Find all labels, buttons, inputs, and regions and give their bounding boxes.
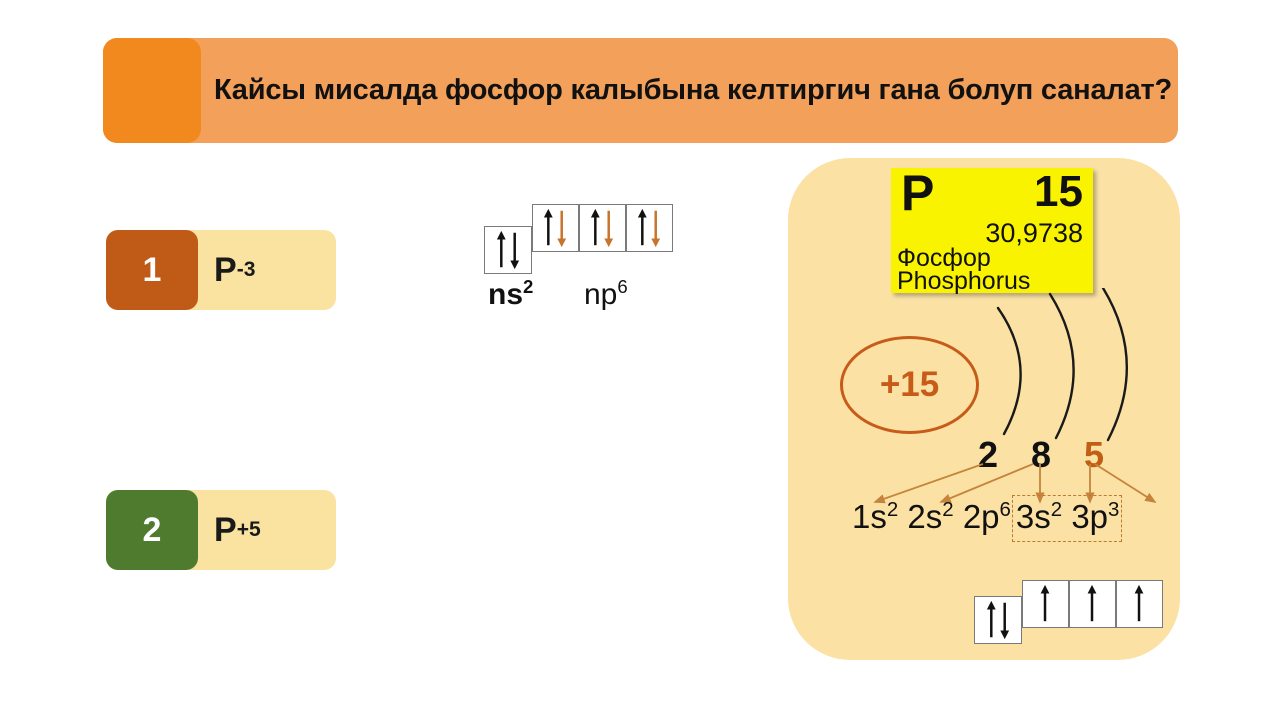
option-2-label: P+5 [214,490,261,570]
valence-shell-highlight-box: 3s2 3p3 [1012,495,1123,542]
atomic-mass: 30,9738 [985,220,1083,247]
nucleus-charge: +15 [840,336,979,434]
answer-option-2[interactable]: 2 P+5 [106,490,336,570]
config-electrons-2s: 2 [942,498,953,521]
option-2-formula-base: P [214,511,237,550]
phosphorus-atom-panel: P 15 30,9738 Фосфор Phosphorus +15 2 8 5… [788,158,1180,660]
electron-pair-arrows-ns [485,227,531,273]
orbital-box-np-3 [626,204,673,252]
page-title: Кайсы мисалда фосфор калыбына келтиргич … [213,38,1173,143]
electron-single-arrow-3p-2 [1070,581,1115,627]
np-label-superscript: 6 [617,276,627,297]
np-label-text: np [584,278,617,311]
electron-pair-arrows-np-1 [533,205,578,251]
electron-pair-arrows-np-3 [627,205,672,251]
shell-arc-2 [1050,294,1074,438]
config-segment-3s: 3s2 [1016,498,1062,536]
config-segment-2s: 2s2 [907,498,953,536]
np-sublevel-label: np6 [584,276,628,312]
shell-arc-3 [1103,288,1127,440]
option-1-label: P-3 [214,230,255,310]
option-2-formula-charge: +5 [237,518,261,542]
electron-shell-arcs [978,288,1178,448]
title-accent-block [103,38,201,143]
config-orbital-3p: 3p [1071,498,1108,535]
option-2-number-badge: 2 [106,490,198,570]
option-1-formula-base: P [214,251,237,290]
ns-label-superscript: 2 [523,276,533,297]
shell-arc-1 [998,308,1021,434]
electron-single-arrow-3p-3 [1117,581,1162,627]
config-orbital-3s: 3s [1016,498,1051,535]
orbital-box-3p-1 [1022,580,1069,628]
config-electrons-3p: 3 [1108,498,1119,521]
orbital-box-np-2 [579,204,626,252]
config-electrons-2p: 6 [1000,498,1011,521]
config-segment-2p: 2p6 [963,498,1011,536]
electron-pair-arrows-3s [975,597,1021,643]
config-orbital-2p: 2p [963,498,1000,535]
ns-label-text: ns [488,278,523,311]
atomic-number: 15 [1034,170,1083,214]
question-title-bar: Кайсы мисалда фосфор калыбына келтиргич … [103,38,1178,143]
ns-sublevel-label: ns2 [488,276,533,312]
config-orbital-1s: 1s [852,498,887,535]
arrow-shell1-to-1s [875,464,983,502]
orbital-box-3p-2 [1069,580,1116,628]
orbital-box-ns [484,226,532,274]
periodic-table-cell: P 15 30,9738 Фосфор Phosphorus [891,168,1093,293]
orbital-box-3p-3 [1116,580,1163,628]
valence-orbital-diagram [974,580,1174,646]
orbital-box-3s [974,596,1022,644]
general-orbital-diagram: ns2 np6 [484,200,714,320]
option-1-number-badge: 1 [106,230,198,310]
center-diagram-labels: ns2 np6 [484,276,714,320]
config-electrons-3s: 2 [1051,498,1062,521]
orbital-box-np-1 [532,204,579,252]
electron-single-arrow-3p-1 [1023,581,1068,627]
option-1-formula-charge: -3 [237,258,256,282]
config-orbital-2s: 2s [907,498,942,535]
electron-configuration: 1s2 2s2 2p63s2 3p3 [852,498,1122,536]
config-electrons-1s: 2 [887,498,898,521]
config-segment-1s: 1s2 [852,498,898,536]
answer-option-1[interactable]: 1 P-3 [106,230,336,310]
element-symbol: P [901,168,934,218]
config-segment-3p: 3p3 [1071,498,1119,536]
electron-pair-arrows-np-2 [580,205,625,251]
